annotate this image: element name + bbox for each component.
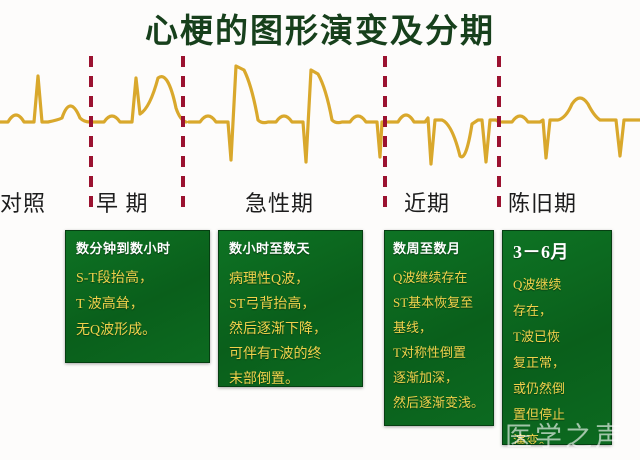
stage-divider-1 — [89, 56, 93, 208]
info-box-title: 数分钟到数小时 — [76, 238, 209, 257]
stage-divider-3 — [383, 56, 387, 208]
info-box-weeks-months: 数周至数月 Q波继续存在 ST基本恢复至 基线， T对称性倒置 逐渐加深， 然后… — [384, 230, 494, 426]
page-title: 心梗的图形演变及分期 — [0, 4, 640, 52]
info-box-line: T对称性倒置 — [393, 340, 493, 365]
info-box-line: 然后逐渐下降， — [229, 317, 362, 342]
info-box-line: S-T段抬高， — [76, 266, 209, 292]
info-box-line: 然后逐渐变浅。 — [393, 390, 493, 415]
info-box-line: 演变。 — [513, 428, 611, 445]
stage-label-recent: 近期 — [404, 186, 450, 218]
stage-divider-4 — [497, 56, 501, 208]
info-box-line: T波已恢 — [513, 324, 611, 350]
ecg-waveform — [0, 52, 640, 170]
info-box-line: 存在， — [513, 298, 611, 324]
stage-label-acute: 急性期 — [245, 186, 314, 218]
stage-label-control: 对照 — [0, 186, 46, 218]
info-box-line: 无Q波形成。 — [76, 318, 209, 344]
info-box-line: 置但停止 — [513, 402, 611, 428]
info-box-three-to-six-months: 3－6月 Q波继续 存在， T波已恢 复正常， 或仍然倒 置但停止 演变。 — [502, 230, 612, 445]
info-box-line: 可伴有T波的终 — [229, 342, 362, 367]
info-box-line: 或仍然倒 — [513, 376, 611, 402]
info-box-lines: 病理性Q波， ST弓背抬高， 然后逐渐下降， 可伴有T波的终 末部倒置。 — [229, 267, 362, 387]
info-box-lines: Q波继续 存在， T波已恢 复正常， 或仍然倒 置但停止 演变。 — [513, 272, 611, 445]
info-box-line: ST弓背抬高， — [229, 292, 362, 317]
stage-divider-2 — [181, 56, 185, 208]
stage-label-old: 陈旧期 — [508, 186, 577, 218]
info-box-line: 末部倒置。 — [229, 367, 362, 387]
info-box-lines: S-T段抬高， T 波高耸， 无Q波形成。 — [76, 266, 209, 344]
diagram-canvas: 心梗的图形演变及分期 对照 早 期 急性期 近期 陈旧期 数分钟到数小 — [0, 0, 640, 460]
info-box-line: 逐渐加深， — [393, 365, 493, 390]
info-box-title: 数小时至数天 — [229, 238, 362, 257]
info-box-title: 3－6月 — [513, 238, 611, 264]
info-box-title: 数周至数月 — [393, 238, 493, 257]
stage-label-early: 早 期 — [96, 186, 149, 218]
info-box-line: 病理性Q波， — [229, 267, 362, 292]
info-box-line: 复正常， — [513, 350, 611, 376]
info-box-line: Q波继续存在 — [393, 265, 493, 290]
info-box-early-minutes: 数分钟到数小时 S-T段抬高， T 波高耸， 无Q波形成。 — [65, 230, 210, 363]
info-box-hours-days: 数小时至数天 病理性Q波， ST弓背抬高， 然后逐渐下降， 可伴有T波的终 末部… — [218, 230, 363, 387]
info-box-line: T 波高耸， — [76, 292, 209, 318]
info-box-line: ST基本恢复至 — [393, 290, 493, 315]
info-box-line: Q波继续 — [513, 272, 611, 298]
info-box-lines: Q波继续存在 ST基本恢复至 基线， T对称性倒置 逐渐加深， 然后逐渐变浅。 — [393, 265, 493, 415]
info-box-line: 基线， — [393, 315, 493, 340]
